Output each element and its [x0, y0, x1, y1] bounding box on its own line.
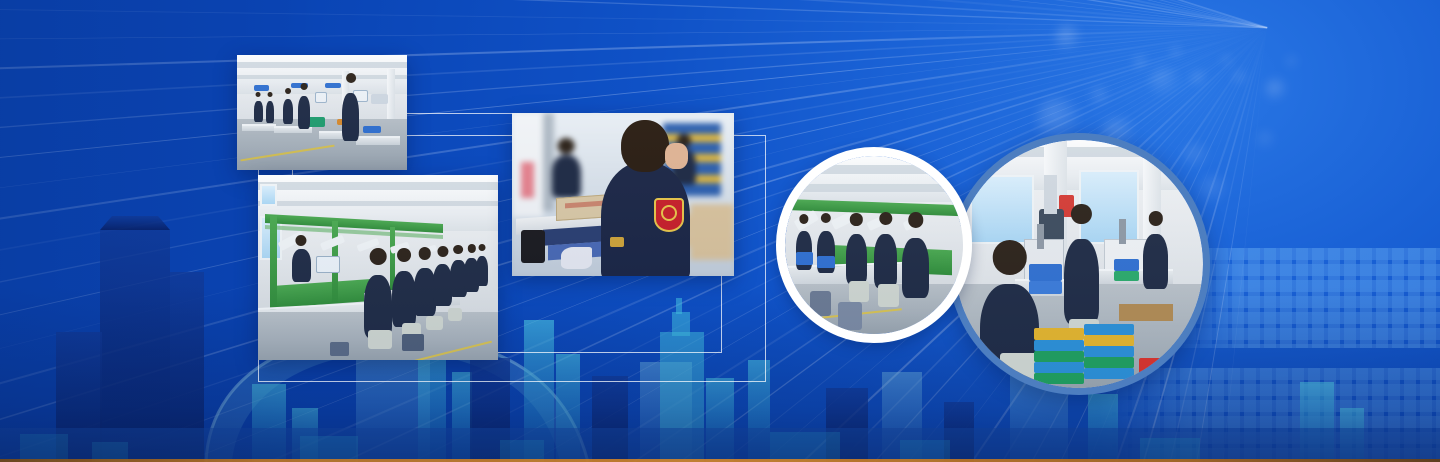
photo-assembly-hall[interactable] [237, 55, 407, 170]
bokeh-circle [1091, 87, 1109, 105]
bokeh-circle [1191, 71, 1206, 86]
bokeh-circle [1199, 175, 1229, 205]
bokeh-circle [1171, 47, 1181, 57]
bokeh-circle [1233, 71, 1247, 85]
hero-banner [0, 0, 1440, 462]
photo-circle-workshop[interactable] [948, 133, 1210, 395]
photo-circle-workbench-row[interactable] [776, 147, 972, 343]
photo-production-line[interactable] [258, 175, 498, 360]
bokeh-circle [1055, 25, 1081, 51]
bokeh-circle [1134, 56, 1147, 69]
bokeh-circle [1222, 56, 1231, 65]
bokeh-circle [1286, 56, 1298, 68]
photo-worker-closeup[interactable] [512, 113, 734, 276]
bokeh-circle [1265, 79, 1287, 101]
bokeh-circle [1149, 67, 1179, 97]
bokeh-circle [1257, 131, 1275, 149]
